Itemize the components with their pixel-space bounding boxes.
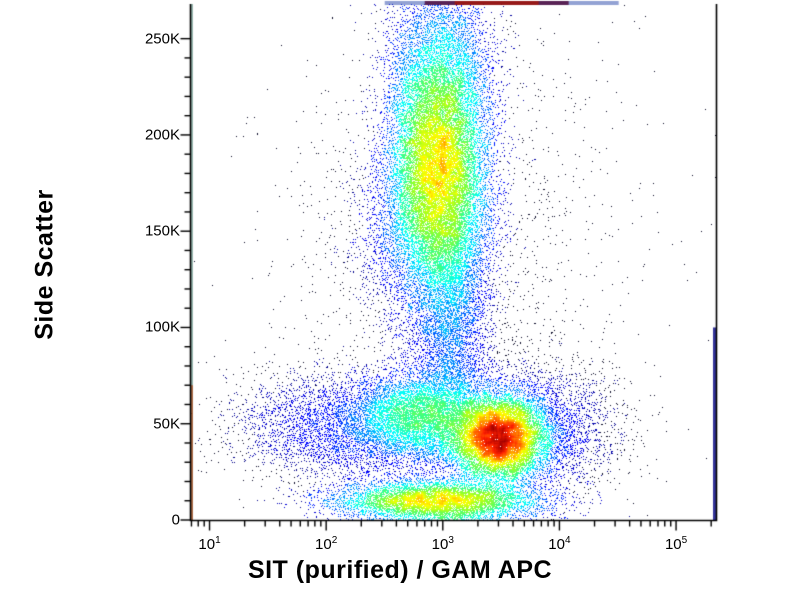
x-tick-label: 105 bbox=[665, 536, 687, 553]
y-tick-label: 250K bbox=[110, 30, 180, 47]
y-tick-label: 200K bbox=[110, 126, 180, 143]
x-axis-title: SIT (purified) / GAM APC bbox=[0, 556, 800, 585]
y-tick-label: 0 bbox=[110, 512, 180, 529]
flow-cytometry-figure: Side Scatter SIT (purified) / GAM APC 05… bbox=[0, 0, 800, 600]
y-tick-label: 150K bbox=[110, 223, 180, 240]
y-tick-label: 100K bbox=[110, 319, 180, 336]
y-tick-label: 50K bbox=[110, 415, 180, 432]
scatter-plot-canvas bbox=[0, 0, 800, 600]
x-tick-label: 104 bbox=[548, 536, 570, 553]
x-tick-label: 102 bbox=[315, 536, 337, 553]
x-tick-label: 101 bbox=[198, 536, 220, 553]
x-tick-label: 103 bbox=[432, 536, 454, 553]
y-axis-title: Side Scatter bbox=[31, 115, 60, 415]
